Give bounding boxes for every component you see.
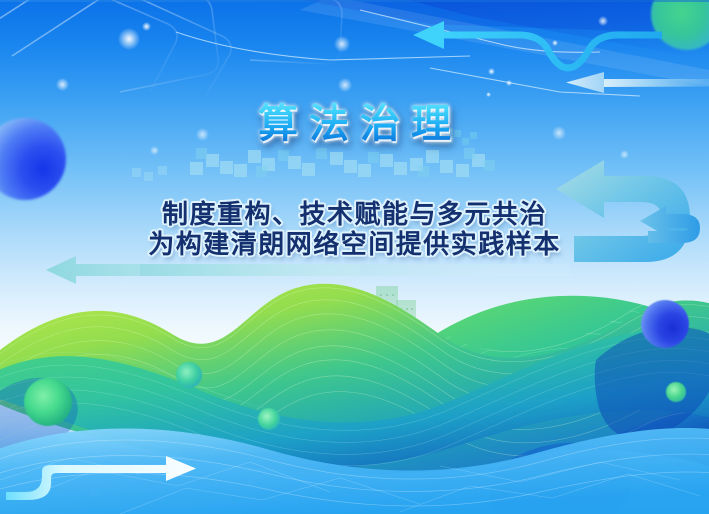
subtitle-line-2: 为构建清朗网络空间提供实践样本 — [0, 228, 709, 262]
title-block: 算法治理 制度重构、技术赋能与多元共治 为构建清朗网络空间提供实践样本 — [0, 0, 709, 514]
subtitle-line-1: 制度重构、技术赋能与多元共治 — [0, 198, 709, 232]
page-title: 算法治理 — [0, 98, 709, 150]
top-border-line — [0, 0, 709, 2]
poster-banner: 算法治理 制度重构、技术赋能与多元共治 为构建清朗网络空间提供实践样本 — [0, 0, 709, 514]
